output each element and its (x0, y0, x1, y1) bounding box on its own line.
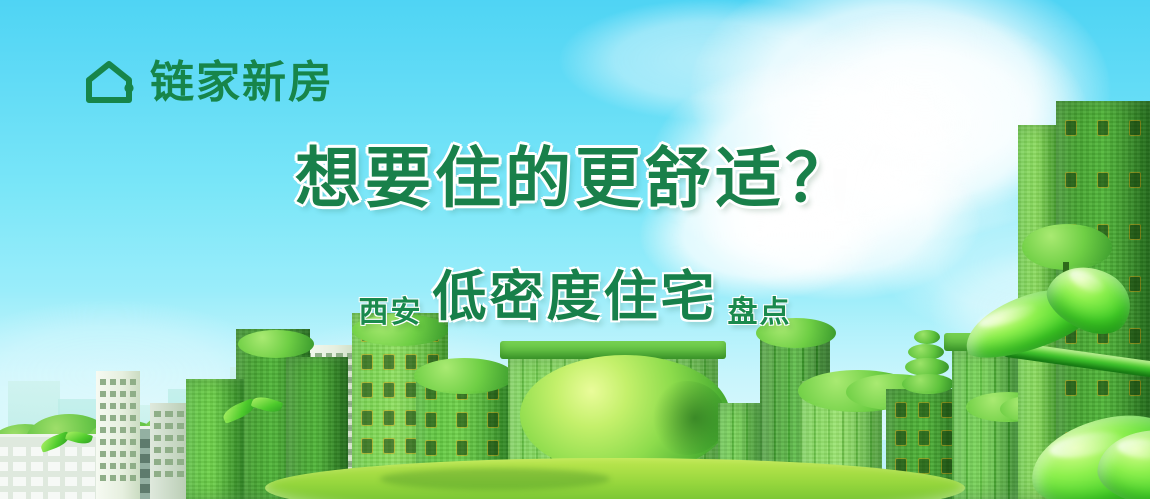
brand-logo[interactable]: 链家新房 (82, 56, 334, 110)
lawn-shadow (380, 468, 610, 490)
big-tree-canopy (520, 355, 730, 475)
ivy-building (186, 379, 244, 499)
subheadline-emphasis: 低密度住宅 (433, 252, 718, 331)
white-tower (150, 403, 188, 499)
bush-top (414, 358, 514, 394)
cloud-wisp-icon (560, 0, 860, 120)
subheadline-city: 西安 (359, 287, 423, 331)
white-tower (96, 371, 140, 499)
grass-building (952, 349, 1018, 499)
topiary-layer (902, 374, 954, 394)
page-title: 想要住的更舒适？ (0, 144, 1150, 213)
window-grid (100, 379, 136, 493)
bush-top (238, 330, 314, 358)
subheadline-suffix: 盘点 (728, 287, 792, 331)
headline-block: 想要住的更舒适？ (0, 144, 1150, 213)
column-flutes (952, 349, 1018, 499)
topiary-layer (914, 330, 940, 344)
brand-name: 链家新房 (150, 61, 334, 105)
subheadline-block: 西安 低密度住宅 盘点 (0, 252, 1150, 331)
house-outline-icon (82, 56, 136, 110)
promo-banner: 链家新房 想要住的更舒适？ 西安 低密度住宅 盘点 (0, 0, 1150, 499)
window-grid (154, 411, 184, 493)
